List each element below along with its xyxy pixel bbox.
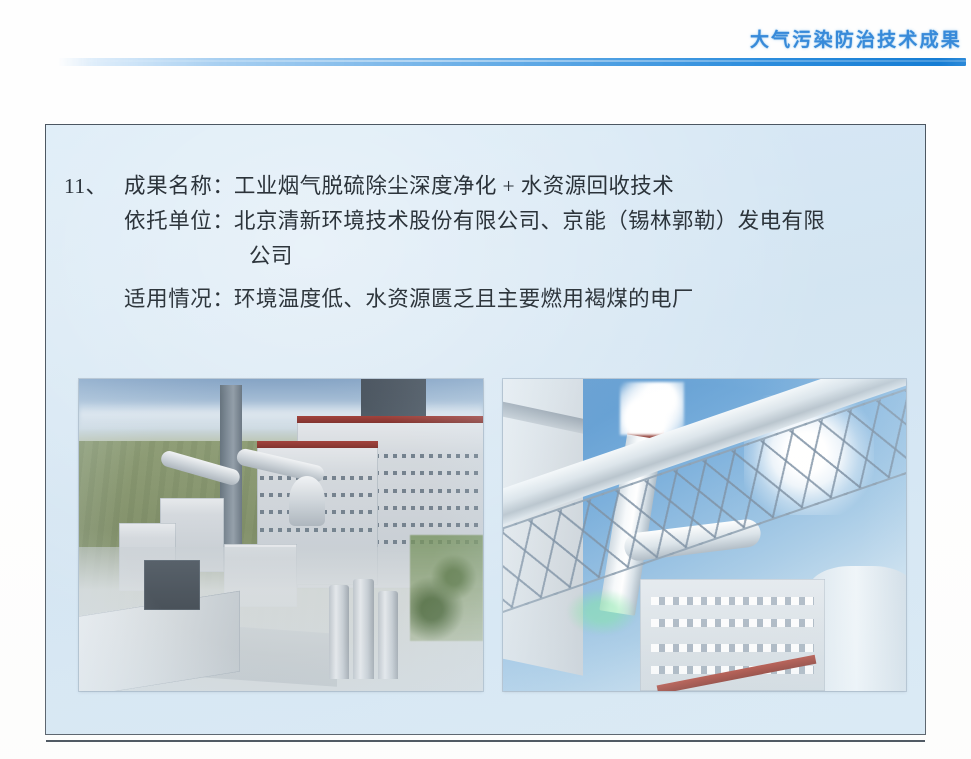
power-plant-aerial-photo [79, 379, 483, 691]
result-row-organization: 依托单位：北京清新环境技术股份有限公司、京能（锡林郭勒）发电有限 [64, 204, 909, 239]
photo-steam-plume [620, 382, 685, 435]
photo-row [79, 379, 906, 691]
chimney-upward-photo [503, 379, 907, 691]
document-page: 大气污染防治技术成果 11、成果名称：工业烟气脱硫除尘深度净化 + 水资源回收技… [0, 0, 971, 759]
field-label-application: 适用情况 [124, 282, 212, 317]
photo-dark-structure [144, 560, 200, 610]
result-content-frame: 11、成果名称：工业烟气脱硫除尘深度净化 + 水资源回收技术 依托单位：北京清新… [45, 124, 926, 735]
field-value-organization-continued: 公司 [249, 244, 293, 268]
photo-absorber-tower [289, 476, 325, 526]
photo-building-eave [503, 401, 584, 434]
field-label-organization: 依托单位 [124, 204, 212, 239]
field-colon-application: ： [212, 287, 234, 311]
field-colon-name: ： [212, 174, 234, 198]
field-value-name: 工业烟气脱硫除尘深度净化 + 水资源回收技术 [234, 174, 674, 198]
row-spacer [64, 274, 909, 282]
page-running-header: 大气污染防治技术成果 [700, 25, 962, 52]
field-value-application: 环境温度低、水资源匮乏且主要燃用褐煤的电厂 [234, 287, 694, 311]
header-rule-divider [58, 58, 966, 66]
field-value-organization: 北京清新环境技术股份有限公司、京能（锡林郭勒）发电有限 [234, 209, 825, 233]
field-colon-organization: ： [212, 209, 234, 233]
next-section-divider [46, 740, 925, 742]
result-row-application: 适用情况：环境温度低、水资源匮乏且主要燃用褐煤的电厂 [64, 282, 909, 317]
photo-landscaping [410, 535, 483, 641]
field-label-name: 成果名称 [124, 169, 212, 204]
result-row-name: 11、成果名称：工业烟气脱硫除尘深度净化 + 水资源回收技术 [64, 169, 909, 204]
photo-silo-b [353, 579, 373, 679]
photo-lens-flare-green [567, 589, 637, 635]
photo-silo-a [329, 585, 349, 679]
result-text-block: 11、成果名称：工业烟气脱硫除尘深度净化 + 水资源回收技术 依托单位：北京清新… [64, 169, 909, 317]
item-number: 11、 [64, 169, 124, 204]
result-row-organization-continued: 公司 [64, 239, 909, 274]
photo-silo-c [378, 591, 398, 678]
